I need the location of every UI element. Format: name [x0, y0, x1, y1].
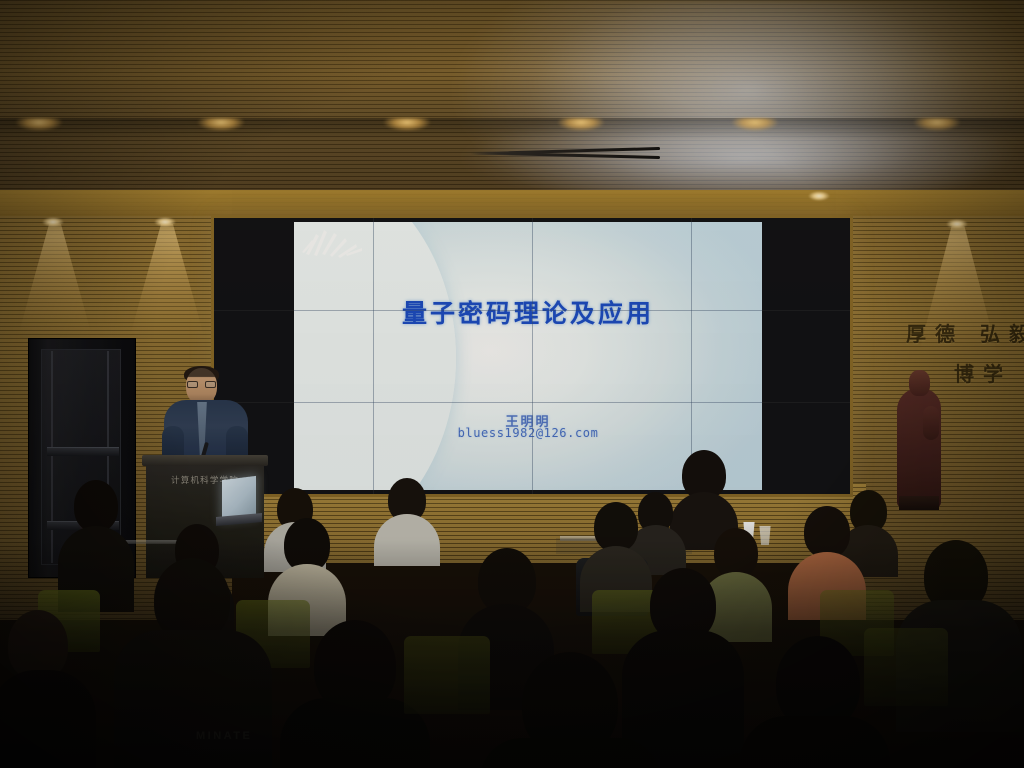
cove-lamp: [192, 118, 250, 140]
wall-motto-line-2: 博学 笃: [954, 358, 1024, 387]
cove-lamp: [378, 118, 436, 140]
audience-member: [480, 652, 660, 768]
audience-member: [0, 610, 96, 768]
ceiling-cove-strip: [0, 118, 1024, 140]
wall-motto-line-1: 厚德 弘毅: [906, 318, 1024, 347]
cove-lamp: [552, 118, 610, 140]
slide-sparkle-icon: [300, 224, 374, 264]
jacket-brand-text: MINATE: [196, 730, 252, 742]
statue-arm: [923, 406, 939, 440]
glasses-icon: [187, 381, 216, 388]
statue-head: [909, 370, 930, 396]
cove-lamp: [10, 118, 68, 140]
chair: [404, 636, 490, 714]
lecture-hall-photo: 厚德 弘毅 博学 笃: [0, 0, 1024, 768]
cove-lamp: [726, 118, 784, 140]
ceiling-projector-mount: [470, 147, 660, 160]
cove-lamp: [908, 118, 966, 140]
wall-upper-trim: [0, 190, 1024, 216]
chair: [864, 628, 948, 706]
audience-area: MINATE: [0, 440, 1024, 768]
downlight-fixture: [806, 190, 832, 202]
audience-member: [378, 478, 436, 558]
